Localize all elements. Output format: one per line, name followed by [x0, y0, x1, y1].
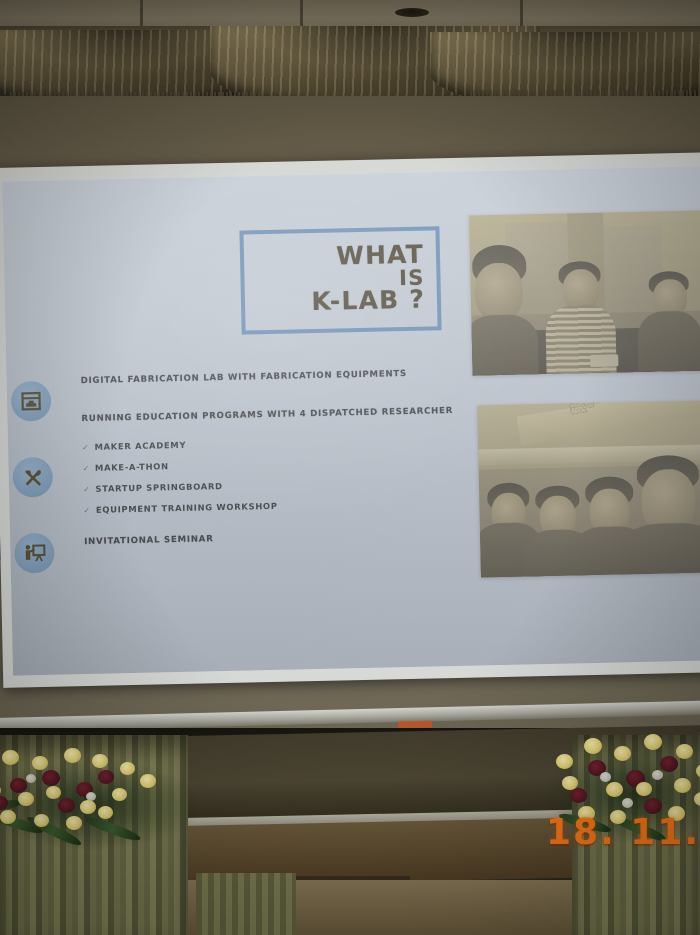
- check-icon: ✓: [83, 506, 91, 515]
- title-line-3: K-LAB ?: [311, 288, 425, 315]
- list-item: ✓STARTUP SPRINGBOARD: [83, 476, 463, 494]
- workshop-participants-photo: [469, 210, 700, 375]
- fabrication-machine-icon: [11, 381, 52, 422]
- list-item: ✓MAKER ACADEMY: [82, 434, 462, 452]
- list-item: ✓EQUIPMENT TRAINING WORKSHOP: [83, 497, 463, 515]
- flower-arrangement-left: [0, 740, 200, 860]
- curtain-valance: [0, 26, 700, 104]
- group-selfie-photo: ကြည့်ပါ: [477, 400, 700, 577]
- body-line-2: RUNNING EDUCATION PROGRAMS WITH 4 DISPAT…: [81, 406, 461, 424]
- list-item: ✓MAKE-A-THON: [82, 455, 462, 473]
- ceiling-lamp: [395, 8, 429, 17]
- projection-screen: WHAT IS K-LAB ?: [0, 152, 700, 687]
- body-line-1: DIGITAL FABRICATION LAB WITH FABRICATION…: [81, 368, 461, 386]
- bullet-list: ✓MAKER ACADEMY ✓MAKE-A-THON ✓STARTUP SPR…: [82, 434, 464, 515]
- footer-line: INVITATIONAL SEMINAR: [84, 529, 464, 547]
- slide-title-box: WHAT IS K-LAB ?: [239, 226, 441, 334]
- list-item-label: STARTUP SPRINGBOARD: [95, 481, 222, 494]
- presenter-board-icon: [14, 533, 55, 574]
- photograph-scene: WHAT IS K-LAB ?: [0, 0, 700, 935]
- stage-curtain-middle: [196, 873, 296, 935]
- list-item-label: MAKER ACADEMY: [94, 440, 186, 452]
- list-item-label: MAKE-A-THON: [95, 461, 169, 473]
- check-icon: ✓: [82, 443, 90, 452]
- tools-icon: [12, 457, 53, 498]
- list-item-label: EQUIPMENT TRAINING WORKSHOP: [96, 501, 278, 515]
- check-icon: ✓: [83, 485, 91, 494]
- camera-date-stamp: 18. 11. 2: [546, 812, 700, 853]
- presentation-slide: WHAT IS K-LAB ?: [2, 167, 700, 676]
- slide-body: DIGITAL FABRICATION LAB WITH FABRICATION…: [81, 368, 465, 575]
- check-icon: ✓: [82, 464, 90, 473]
